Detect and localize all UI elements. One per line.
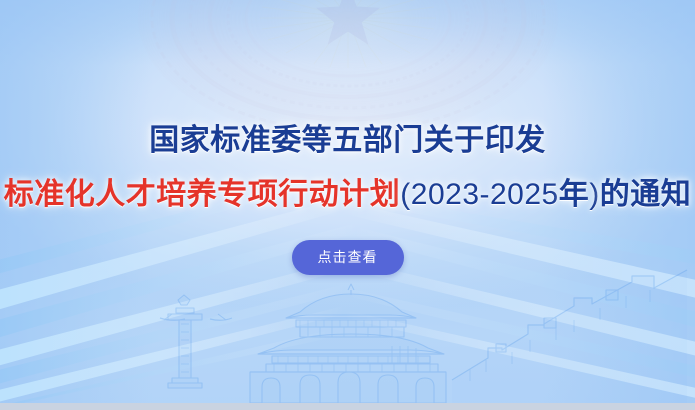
- view-detail-button[interactable]: 点击查看: [292, 240, 404, 275]
- title-segment-paren-close: ): [589, 178, 600, 211]
- banner-title-line-2: 标准化人才培养专项行动计划(2023-2025年)的通知: [4, 176, 691, 214]
- title-segment-plan-name: 标准化人才培养专项行动计划: [4, 178, 401, 211]
- title-segment-suffix: 的通知: [600, 178, 692, 211]
- cta-container: 点击查看: [292, 240, 404, 275]
- title-segment-paren-open: (: [400, 178, 411, 211]
- title-segment-year-range: 2023-2025: [411, 178, 559, 211]
- banner-content: 国家标准委等五部门关于印发 标准化人才培养专项行动计划(2023-2025年)的…: [0, 0, 695, 410]
- banner-title-line-1: 国家标准委等五部门关于印发: [149, 122, 546, 160]
- title-segment-year-char: 年: [559, 178, 590, 211]
- notice-banner: 国家标准委等五部门关于印发 标准化人才培养专项行动计划(2023-2025年)的…: [0, 0, 695, 410]
